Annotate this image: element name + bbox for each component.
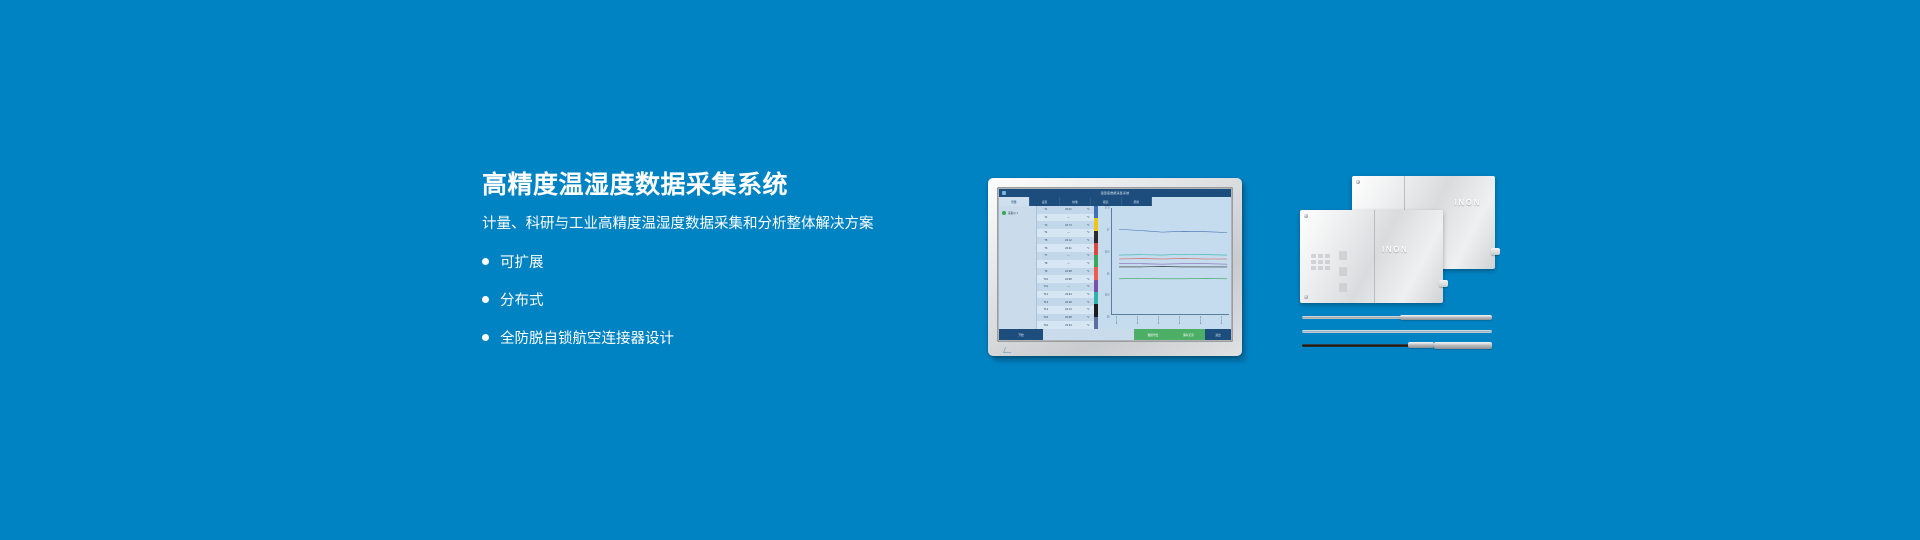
chart-y-tick-label: 26 (1107, 272, 1110, 275)
table-row[interactable]: T2---℃ (1037, 214, 1094, 222)
port-cell (1311, 254, 1316, 258)
chart-y-tick-label: 27.5 (1105, 207, 1110, 210)
monitor-screen: 温湿度数据采集系统 测量 设置 校准 报表 帮助 采集仪 1 (999, 189, 1231, 340)
cell-channel: T13 (1037, 298, 1055, 306)
device-tree-sidebar: 采集仪 1 (999, 206, 1037, 329)
tab-measure[interactable]: 测量 (999, 197, 1030, 206)
port-grid (1311, 254, 1330, 270)
chart-y-axis: 27.52726.52625.525 (1098, 206, 1111, 315)
screw-icon (1356, 180, 1360, 184)
cell-value: 26.13 (1055, 306, 1082, 314)
table-row[interactable]: T4---℃ (1037, 229, 1094, 237)
screw-icon (1304, 214, 1308, 218)
cell-value: 26.61 (1055, 244, 1082, 252)
cell-channel: T12 (1037, 291, 1055, 299)
monitor-inner-frame: 温湿度数据采集系统 测量 设置 校准 报表 帮助 采集仪 1 (997, 187, 1233, 342)
save-record-button[interactable]: 保存记录 (1172, 329, 1205, 340)
cell-channel: T3 (1037, 221, 1055, 229)
cell-unit: ℃ (1082, 314, 1094, 322)
port-cell (1318, 254, 1323, 258)
tab-settings[interactable]: 设置 (1030, 197, 1061, 206)
cell-channel: T9 (1037, 268, 1055, 276)
table-row[interactable]: T11---℃ (1037, 283, 1094, 291)
cell-unit: ℃ (1082, 283, 1094, 291)
table-row[interactable]: T526.12℃ (1037, 237, 1094, 245)
cell-channel: T8 (1037, 260, 1055, 268)
table-row[interactable]: T926.98℃ (1037, 268, 1094, 276)
cell-value: 26.98 (1055, 268, 1082, 276)
cell-unit: ℃ (1082, 229, 1094, 237)
cell-unit: ℃ (1082, 275, 1094, 283)
table-row[interactable]: T125.01℃ (1037, 206, 1094, 214)
cell-value: --- (1055, 214, 1082, 222)
cell-channel: T4 (1037, 229, 1055, 237)
page-title: 高精度温湿度数据采集系统 (482, 172, 952, 200)
screw-icon (1304, 295, 1308, 299)
table-row[interactable]: T7---℃ (1037, 252, 1094, 260)
table-row[interactable]: T1326.28℃ (1037, 298, 1094, 306)
bullet-dot-icon (482, 258, 489, 265)
chart-series-svg (1112, 208, 1230, 314)
port-cell (1318, 266, 1323, 270)
chart-y-tick-label: 25.5 (1105, 294, 1110, 297)
cell-value: 25.01 (1055, 206, 1082, 214)
app-titlebar: 温湿度数据采集系统 (999, 189, 1231, 197)
cell-channel: T2 (1037, 214, 1055, 222)
chart-plot-area (1111, 208, 1230, 315)
cell-channel: T7 (1037, 252, 1055, 260)
footer-spacer (1043, 329, 1134, 340)
app-body: 采集仪 1 T125.01℃T2---℃T326.74℃T4---℃T526.1… (999, 206, 1231, 329)
data-logger-front: INON (1300, 210, 1443, 303)
chart-x-axis: 14:20:1014:24:1014:28:1014:32:1014:36:10… (1111, 315, 1230, 329)
brand-logo: INON (1455, 198, 1481, 207)
export-data-button[interactable]: 数据导出 (1134, 329, 1172, 340)
table-row[interactable]: T1626.94℃ (1037, 321, 1094, 329)
feature-label: 分布式 (500, 289, 544, 310)
table-row[interactable]: T1526.98℃ (1037, 314, 1094, 322)
cell-value: 25.94 (1055, 291, 1082, 299)
port-cell (1318, 260, 1323, 264)
connector-port (1491, 248, 1500, 255)
cell-channel: T6 (1037, 244, 1055, 252)
chart-y-tick-label: 25 (1107, 316, 1110, 319)
feature-label: 可扩展 (500, 251, 544, 272)
cell-channel: T1 (1037, 206, 1055, 214)
tab-bar: 测量 设置 校准 报表 帮助 (999, 197, 1152, 206)
port-cell (1325, 254, 1330, 258)
cell-unit: ℃ (1082, 252, 1094, 260)
port-cell (1311, 266, 1316, 270)
cell-channel: T10 (1037, 275, 1055, 283)
chart-x-tick-label: 14:24:10 (1137, 316, 1139, 325)
chart-x-tick-label: 14:36:10 (1200, 316, 1202, 325)
cell-unit: ℃ (1082, 214, 1094, 222)
page-subtitle: 计量、科研与工业高精度温湿度数据采集和分析整体解决方案 (482, 216, 952, 233)
cell-unit: ℃ (1082, 321, 1094, 329)
chart-y-tick-label: 27 (1107, 228, 1110, 231)
connector-port (1439, 280, 1448, 287)
trend-chart: 27.52726.52625.525 14:20:1014:24:1014:28… (1098, 206, 1232, 329)
panel-pc-monitor: 温湿度数据采集系统 测量 设置 校准 报表 帮助 采集仪 1 (988, 178, 1246, 362)
monitor-bezel: 温湿度数据采集系统 测量 设置 校准 报表 帮助 采集仪 1 (988, 178, 1242, 356)
bullet-dot-icon (482, 334, 489, 341)
product-banner: 高精度温湿度数据采集系统 计量、科研与工业高精度温湿度数据采集和分析整体解决方案… (0, 0, 1920, 540)
cell-value: 26.12 (1055, 237, 1082, 245)
chart-x-tick-label: 14:20:10 (1116, 316, 1118, 325)
cell-value: 26.74 (1055, 221, 1082, 229)
stainless-temperature-probe (1302, 314, 1492, 320)
cell-unit: ℃ (1082, 221, 1094, 229)
sidebar-item-label: 采集仪 1 (1008, 211, 1018, 215)
cell-channel: T16 (1037, 321, 1055, 329)
cell-value: --- (1055, 260, 1082, 268)
tab-report[interactable]: 报表 (1091, 197, 1122, 206)
cell-channel: T14 (1037, 306, 1055, 314)
chart-y-tick-label: 26.5 (1105, 250, 1110, 253)
port-cell (1311, 260, 1316, 264)
cell-value: --- (1055, 283, 1082, 291)
connector-collar (1408, 342, 1434, 348)
port-block (1339, 251, 1347, 260)
cell-unit: ℃ (1082, 268, 1094, 276)
cell-unit: ℃ (1082, 260, 1094, 268)
chart-series-line (1119, 229, 1227, 232)
brand-logo: INON (1382, 245, 1408, 254)
app-title: 温湿度数据采集系统 (999, 191, 1231, 195)
start-button[interactable]: 开始 (999, 329, 1043, 340)
cell-value: 26.94 (1055, 321, 1082, 329)
aviation-connector (1434, 342, 1492, 349)
chart-x-tick-label: 14:40:10 (1221, 316, 1223, 325)
cell-value: 26.28 (1055, 298, 1082, 306)
cell-channel: T11 (1037, 283, 1055, 291)
feature-label: 全防脱自锁航空连接器设计 (500, 327, 674, 348)
bullet-dot-icon (482, 296, 489, 303)
table-row[interactable]: T326.74℃ (1037, 221, 1094, 229)
list-item: 全防脱自锁航空连接器设计 (482, 327, 952, 348)
probe-cable (1302, 330, 1492, 333)
channel-table: T125.01℃T2---℃T326.74℃T4---℃T526.12℃T626… (1037, 206, 1094, 329)
black-cable-aviation-connector (1302, 342, 1492, 348)
chart-series-line (1119, 254, 1227, 255)
cell-channel: T5 (1037, 237, 1055, 245)
list-item: 可扩展 (482, 251, 952, 272)
probe-tip (1400, 315, 1492, 320)
chart-x-tick-label: 14:28:10 (1158, 316, 1160, 325)
port-block (1339, 267, 1347, 276)
cell-channel: T15 (1037, 314, 1055, 322)
sidebar-item-logger[interactable]: 采集仪 1 (999, 210, 1036, 216)
cell-unit: ℃ (1082, 237, 1094, 245)
cell-value: --- (1055, 252, 1082, 260)
table-row[interactable]: T1225.94℃ (1037, 291, 1094, 299)
chart-x-tick-label: 14:32:10 (1179, 316, 1181, 325)
sensor-probe-group (1302, 314, 1492, 360)
cell-unit: ℃ (1082, 298, 1094, 306)
table-row[interactable]: T1026.88℃ (1037, 275, 1094, 283)
blue-sheath-sensor-cable (1302, 328, 1492, 334)
exit-button[interactable]: 退出 (1205, 329, 1231, 340)
port-block (1339, 283, 1347, 292)
cell-unit: ℃ (1082, 206, 1094, 214)
cell-unit: ℃ (1082, 291, 1094, 299)
tab-calibration[interactable]: 校准 (1060, 197, 1091, 206)
app-footer: 开始 数据导出 保存记录 退出 (999, 329, 1231, 340)
cell-unit: ℃ (1082, 306, 1094, 314)
status-ok-icon (1002, 211, 1006, 215)
list-item: 分布式 (482, 289, 952, 310)
cell-unit: ℃ (1082, 244, 1094, 252)
copy-block: 高精度温湿度数据采集系统 计量、科研与工业高精度温湿度数据采集和分析整体解决方案… (482, 172, 952, 365)
port-column (1339, 251, 1347, 292)
cell-value: 26.98 (1055, 314, 1082, 322)
tab-help[interactable]: 帮助 (1122, 197, 1153, 206)
table-row[interactable]: T8---℃ (1037, 260, 1094, 268)
probe-cable (1302, 344, 1412, 347)
port-cell (1325, 266, 1330, 270)
table-row[interactable]: T1426.13℃ (1037, 306, 1094, 314)
table-row[interactable]: T626.61℃ (1037, 244, 1094, 252)
probe-cable (1302, 316, 1402, 319)
cell-value: 26.88 (1055, 275, 1082, 283)
cell-value: --- (1055, 229, 1082, 237)
feature-list: 可扩展 分布式 全防脱自锁航空连接器设计 (482, 251, 952, 348)
enclosure-seam (1374, 210, 1375, 303)
port-cell (1325, 260, 1330, 264)
